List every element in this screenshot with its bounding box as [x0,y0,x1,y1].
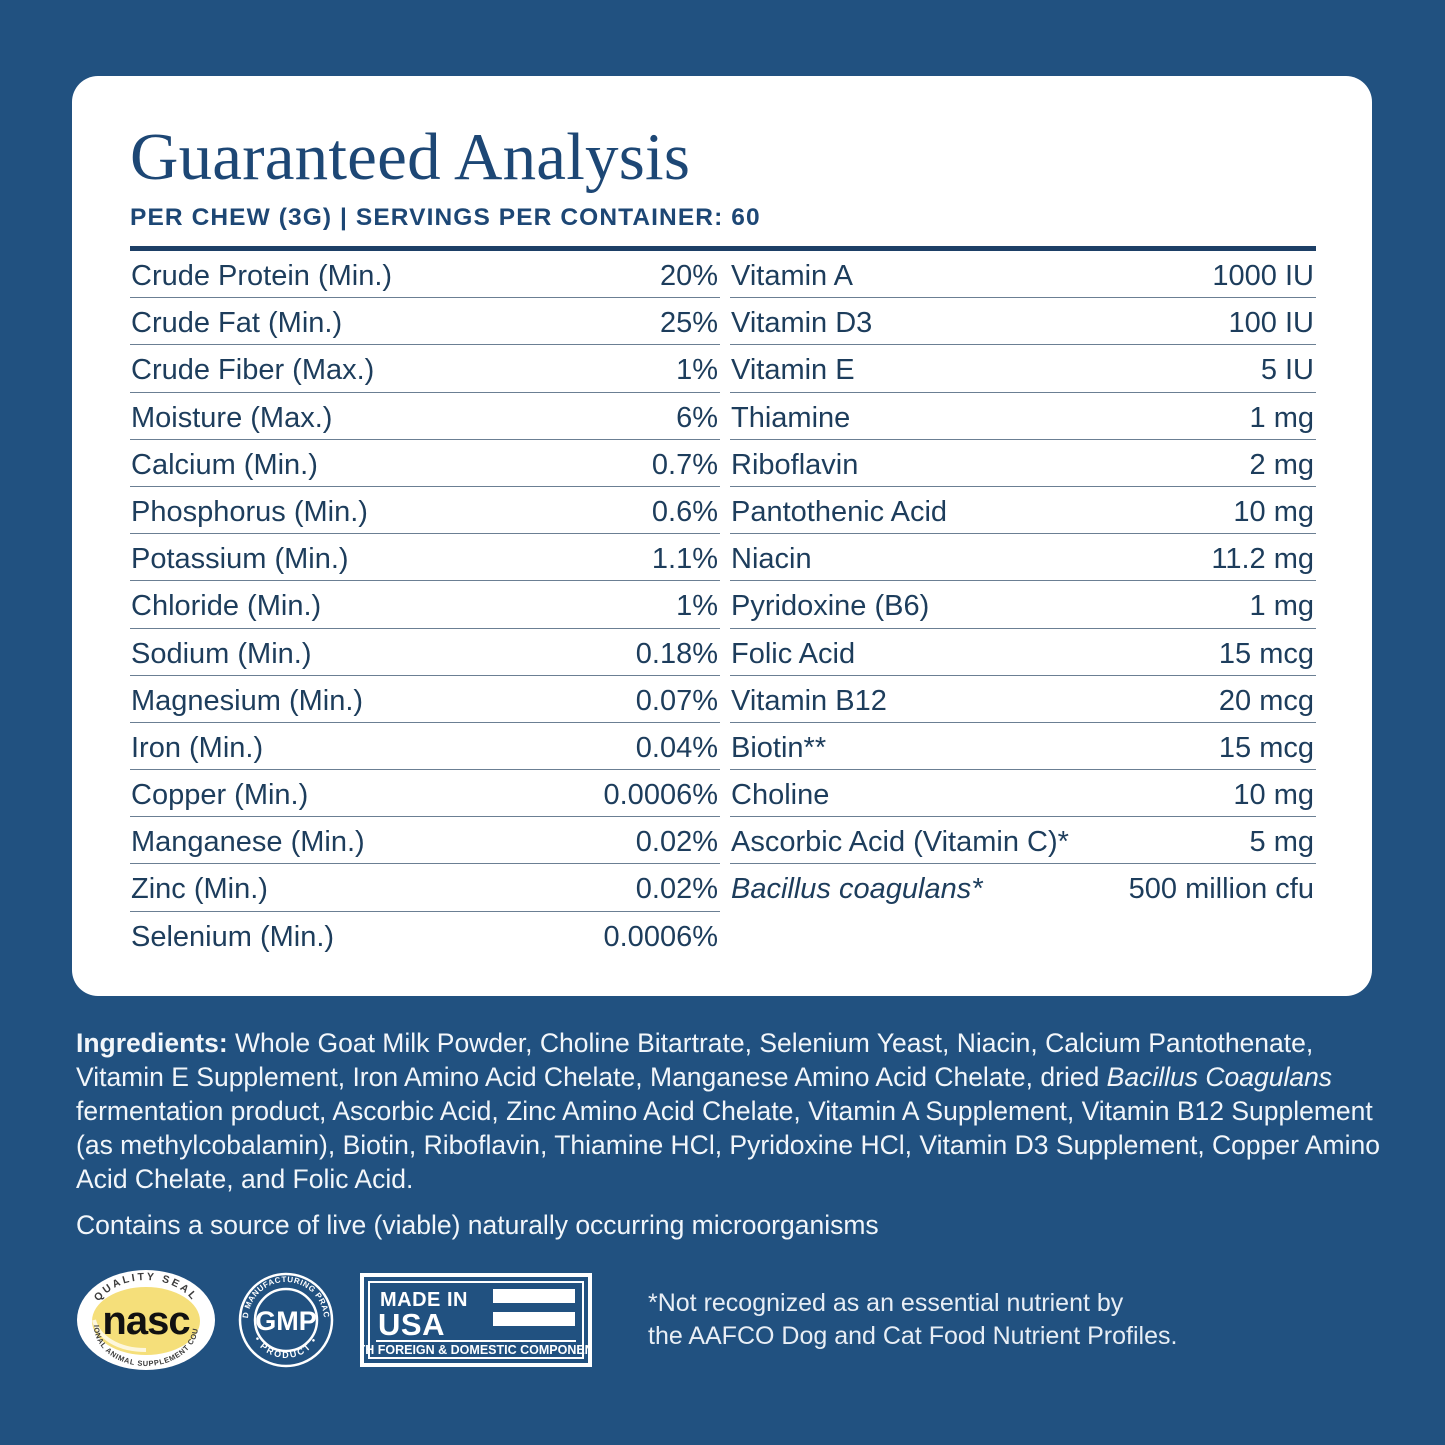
nutrient-name: Crude Fiber (Max.) [131,345,374,387]
table-row: Zinc (Min.)0.02% [130,864,720,911]
nutrient-value: 15 mcg [1219,629,1314,671]
table-row: Moisture (Max.)6% [130,393,720,440]
nutrient-value: 0.04% [636,723,718,765]
page-title: Guaranteed Analysis [130,120,1316,194]
table-row: Niacin11.2 mg [730,534,1316,581]
nutrient-value: 1 mg [1250,393,1314,435]
svg-text:WITH FOREIGN & DOMESTIC COMPON: WITH FOREIGN & DOMESTIC COMPONENTS [360,1343,592,1357]
nutrient-name: Manganese (Min.) [131,817,365,859]
nutrient-value: 0.02% [636,864,718,906]
nutrient-value: 11.2 mg [1211,534,1314,576]
nutrient-name: Thiamine [731,393,850,435]
nutrient-value: 1000 IU [1212,251,1314,293]
nutrient-name: Selenium (Min.) [131,912,334,954]
nutrient-name: Ascorbic Acid (Vitamin C)* [731,817,1069,859]
nasc-seal-icon: QUALITY SEAL NATIONAL ANIMAL SUPPLEMENT … [76,1268,216,1372]
nutrient-value: 10 mg [1233,487,1314,529]
nutrient-value: 0.0006% [604,912,719,954]
table-row: Folic Acid15 mcg [730,629,1316,676]
nutrient-name: Vitamin B12 [731,676,887,718]
nutrient-value: 6% [676,393,718,435]
table-row: Copper (Min.)0.0006% [130,770,720,817]
nutrient-name: Zinc (Min.) [131,864,268,906]
table-row: Pantothenic Acid10 mg [730,487,1316,534]
nutrient-name: Folic Acid [731,629,855,671]
svg-text:• PRODUCT •: • PRODUCT • [252,1335,319,1360]
nutrient-value: 25% [660,298,718,340]
table-row: Chloride (Min.)1% [130,581,720,628]
nutrient-value: 5 mg [1250,817,1314,859]
table-row: Phosphorus (Min.)0.6% [130,487,720,534]
aafco-footnote-line1: *Not recognized as an essential nutrient… [648,1287,1177,1320]
serving-info: PER CHEW (3G) | SERVINGS PER CONTAINER: … [130,204,1316,232]
table-row: Vitamin A1000 IU [730,251,1316,298]
table-row: Biotin**15 mcg [730,723,1316,770]
nutrient-name: Vitamin A [731,251,853,293]
table-row: Riboflavin2 mg [730,440,1316,487]
table-row: Crude Fat (Min.)25% [130,298,720,345]
svg-text:nasc: nasc [102,1299,190,1343]
nutrient-name: Crude Fat (Min.) [131,298,342,340]
nutrient-name: Sodium (Min.) [131,629,312,671]
ingredients-label: Ingredients: [76,1028,228,1058]
aafco-footnote-line2: the AAFCO Dog and Cat Food Nutrient Prof… [648,1320,1177,1353]
nutrient-name: Vitamin E [731,345,855,387]
nutrient-table: Crude Protein (Min.)20%Crude Fat (Min.)2… [130,251,1316,959]
table-row: Bacillus coagulans*500 million cfu [730,864,1316,911]
nutrient-name: Biotin** [731,723,826,765]
nutrient-value: 20 mcg [1219,676,1314,718]
nutrient-name: Pyridoxine (B6) [731,581,929,623]
table-row: Magnesium (Min.)0.07% [130,676,720,723]
table-row: Pyridoxine (B6)1 mg [730,581,1316,628]
table-row: Vitamin D3100 IU [730,298,1316,345]
nutrient-column-left: Crude Protein (Min.)20%Crude Fat (Min.)2… [130,251,720,959]
nutrient-value: 15 mcg [1219,723,1314,765]
table-row: Crude Protein (Min.)20% [130,251,720,298]
table-row: Sodium (Min.)0.18% [130,629,720,676]
ingredients-italic-term: Bacillus Coagulans [1107,1062,1332,1092]
nutrient-value: 500 million cfu [1129,864,1314,906]
footer-row: QUALITY SEAL NATIONAL ANIMAL SUPPLEMENT … [76,1268,1376,1372]
nutrient-name: Iron (Min.) [131,723,263,765]
nutrient-value: 0.7% [652,440,718,482]
table-row: Crude Fiber (Max.)1% [130,345,720,392]
nutrient-value: 10 mg [1233,770,1314,812]
aafco-footnote: *Not recognized as an essential nutrient… [648,1287,1177,1353]
table-row: Thiamine1 mg [730,393,1316,440]
nutrient-name: Bacillus coagulans* [731,864,982,906]
nutrient-name: Moisture (Max.) [131,393,332,435]
table-row: Manganese (Min.)0.02% [130,817,720,864]
nutrient-value: 1.1% [652,534,718,576]
nutrient-value: 1% [676,581,718,623]
table-row: Potassium (Min.)1.1% [130,534,720,581]
guaranteed-analysis-card: Guaranteed Analysis PER CHEW (3G) | SERV… [72,76,1372,996]
nutrient-name: Calcium (Min.) [131,440,318,482]
nutrient-name: Chloride (Min.) [131,581,321,623]
nutrient-name: Crude Protein (Min.) [131,251,392,293]
nutrient-value: 20% [660,251,718,293]
nutrient-name: Copper (Min.) [131,770,308,812]
nutrient-value: 0.6% [652,487,718,529]
nutrient-name: Potassium (Min.) [131,534,349,576]
nutrient-value: 0.02% [636,817,718,859]
table-row: Iron (Min.)0.04% [130,723,720,770]
gmp-seal-icon: GOOD MANUFACTURING PRACTICE • PRODUCT • … [238,1272,334,1368]
table-row: Ascorbic Acid (Vitamin C)*5 mg [730,817,1316,864]
nutrient-value: 0.18% [636,629,718,671]
ingredients-text-part2: fermentation product, Ascorbic Acid, Zin… [76,1096,1380,1194]
nutrient-value: 2 mg [1250,440,1314,482]
table-row: Calcium (Min.)0.7% [130,440,720,487]
nutrient-name: Magnesium (Min.) [131,676,363,718]
svg-text:USA: USA [378,1307,445,1342]
nutrient-value: 0.0006% [604,770,719,812]
nutrient-name: Choline [731,770,829,812]
table-row: Vitamin E5 IU [730,345,1316,392]
label-page: Guaranteed Analysis PER CHEW (3G) | SERV… [0,0,1445,1445]
ingredients-paragraph: Ingredients: Whole Goat Milk Powder, Cho… [76,1026,1386,1196]
nutrient-name: Niacin [731,534,812,576]
nutrient-name: Vitamin D3 [731,298,872,340]
made-in-usa-icon: MADE IN USA WITH FOREIGN & DOMESTIC COMP… [360,1273,592,1367]
nutrient-value: 100 IU [1229,298,1314,340]
nutrient-value: 1 mg [1250,581,1314,623]
table-row: Vitamin B1220 mcg [730,676,1316,723]
table-row: Choline10 mg [730,770,1316,817]
nutrient-name: Pantothenic Acid [731,487,947,529]
contains-note: Contains a source of live (viable) natur… [76,1208,879,1242]
nutrient-value: 1% [676,345,718,387]
nutrient-name: Riboflavin [731,440,858,482]
nutrient-column-right: Vitamin A1000 IUVitamin D3100 IUVitamin … [730,251,1316,959]
nutrient-value: 0.07% [636,676,718,718]
table-row: Selenium (Min.)0.0006% [130,912,720,959]
svg-text:GMP: GMP [255,1306,317,1336]
nutrient-name: Phosphorus (Min.) [131,487,368,529]
nutrient-value: 5 IU [1261,345,1314,387]
